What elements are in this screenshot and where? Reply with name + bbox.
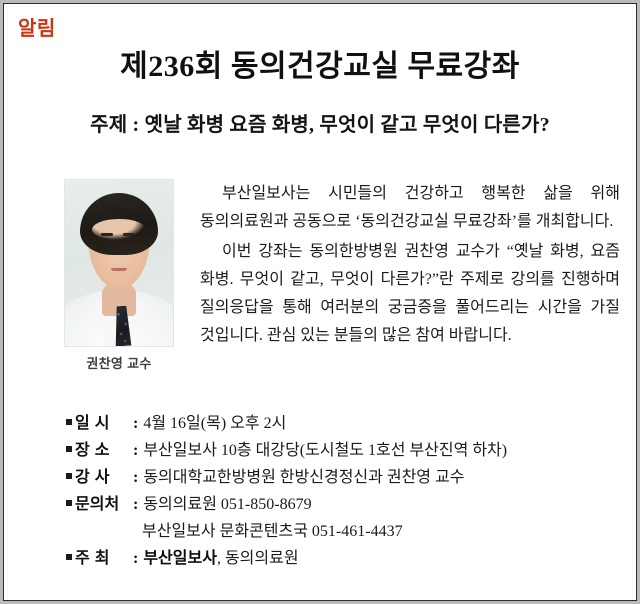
body-paragraph-2: 이번 강좌는 동의한방병원 권찬영 교수가 “옛날 화병, 요즘 화병. 무엇이… xyxy=(200,238,620,350)
square-bullet-icon xyxy=(66,500,72,506)
detail-label: 장 소 xyxy=(75,437,133,464)
speaker-photo-caption: 권찬영 교수 xyxy=(58,355,180,373)
announcement-poster: 알림 제236회 동의건강교실 무료강좌 주제 : 옛날 화병 요즘 화병, 무… xyxy=(0,0,640,604)
detail-row-contact: 문의처 : 동의의료원 051-850-8679 xyxy=(66,491,606,518)
detail-colon: : xyxy=(133,410,143,437)
detail-row-contact-secondary: 부산일보사 문화콘텐츠국 051-461-4437 xyxy=(66,518,606,545)
body-text-block: 부산일보사는 시민들의 건강하고 행복한 삶을 위해 동의의료원과 공동으로 ‘… xyxy=(200,180,620,352)
speaker-photo-block: 권찬영 교수 xyxy=(58,179,180,373)
organizer-secondary: , 동의의료원 xyxy=(217,550,299,567)
eyebrow-right xyxy=(123,233,135,236)
detail-value: 부산일보사 문화콘텐츠국 051-461-4437 xyxy=(142,518,403,545)
detail-colon: : xyxy=(133,491,143,518)
detail-value: 동의대학교한방병원 한방신경정신과 권찬영 교수 xyxy=(143,464,464,491)
detail-value: 부산일보사 10층 대강당(도시철도 1호선 부산진역 하차) xyxy=(143,437,507,464)
poster-content: 알림 제236회 동의건강교실 무료강좌 주제 : 옛날 화병 요즘 화병, 무… xyxy=(4,4,636,600)
notice-badge: 알림 xyxy=(18,18,56,40)
detail-label: 강 사 xyxy=(75,464,133,491)
page-title: 제236회 동의건강교실 무료강좌 xyxy=(4,48,636,86)
detail-value: 부산일보사, 동의의료원 xyxy=(143,545,298,572)
eye-right xyxy=(125,240,134,243)
square-bullet-icon xyxy=(66,419,72,425)
detail-colon: : xyxy=(133,464,143,491)
lecture-subtitle: 주제 : 옛날 화병 요즘 화병, 무엇이 같고 무엇이 다른가? xyxy=(4,111,636,139)
detail-colon: : xyxy=(133,437,143,464)
square-bullet-icon xyxy=(66,446,72,452)
detail-row-lecturer: 강 사 : 동의대학교한방병원 한방신경정신과 권찬영 교수 xyxy=(66,464,606,491)
detail-label: 일 시 xyxy=(75,410,133,437)
detail-row-organizer: 주 최 : 부산일보사, 동의의료원 xyxy=(66,545,606,572)
body-paragraph-1: 부산일보사는 시민들의 건강하고 행복한 삶을 위해 동의의료원과 공동으로 ‘… xyxy=(200,180,620,236)
detail-value: 동의의료원 051-850-8679 xyxy=(143,491,311,518)
detail-colon: : xyxy=(133,545,143,572)
organizer-primary: 부산일보사 xyxy=(143,550,217,567)
speaker-portrait-photo xyxy=(64,179,174,347)
detail-row-venue: 장 소 : 부산일보사 10층 대강당(도시철도 1호선 부산진역 하차) xyxy=(66,437,606,464)
eye-left xyxy=(103,240,112,243)
hair-shape xyxy=(80,193,158,255)
square-bullet-icon xyxy=(66,473,72,479)
square-bullet-icon xyxy=(66,554,72,560)
detail-row-datetime: 일 시 : 4월 16일(목) 오후 2시 xyxy=(66,410,606,437)
eyebrow-left xyxy=(101,233,113,236)
event-details-list: 일 시 : 4월 16일(목) 오후 2시 장 소 : 부산일보사 10층 대강… xyxy=(66,410,606,572)
detail-value: 4월 16일(목) 오후 2시 xyxy=(143,410,286,437)
detail-label: 문의처 xyxy=(75,491,133,518)
mouth-shape xyxy=(111,268,127,271)
detail-label: 주 최 xyxy=(75,545,133,572)
